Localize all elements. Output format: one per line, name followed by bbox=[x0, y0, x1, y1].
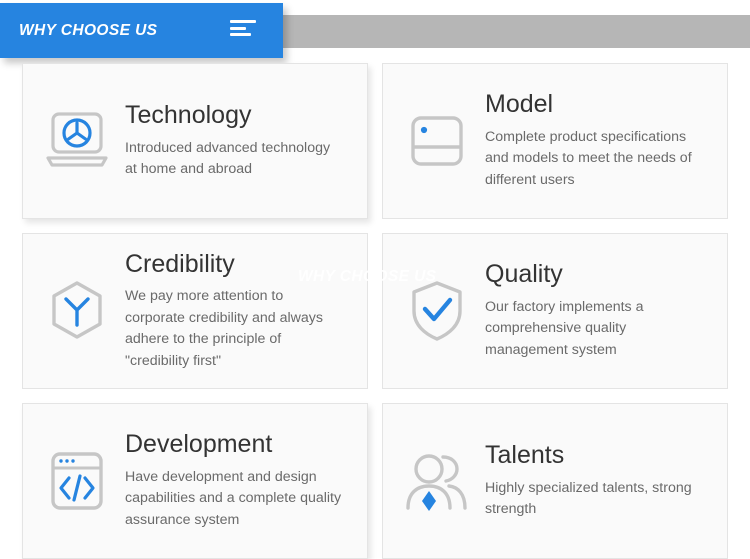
card-text-block: Technology Introduced advanced technolog… bbox=[125, 101, 368, 181]
menu-line-2 bbox=[230, 27, 246, 30]
laptop-clock-icon bbox=[29, 110, 125, 172]
hexagon-y-icon bbox=[29, 279, 125, 343]
card-description: We pay more attention to corporate credi… bbox=[125, 286, 368, 372]
card-text-block: Quality Our factory implements a compreh… bbox=[485, 260, 728, 361]
feature-card-credibility[interactable]: Credibility We pay more attention to cor… bbox=[22, 233, 368, 389]
card-title: Development bbox=[125, 430, 368, 460]
card-description: Introduced advanced technology at home a… bbox=[125, 138, 368, 181]
card-text-block: Credibility We pay more attention to cor… bbox=[125, 250, 368, 373]
shield-check-icon bbox=[389, 278, 485, 344]
menu-line-1 bbox=[230, 20, 256, 23]
card-title: Technology bbox=[125, 101, 368, 131]
card-title: Credibility bbox=[125, 250, 368, 280]
page-header: WHY CHOOSE US bbox=[0, 0, 750, 62]
people-diamond-icon bbox=[389, 449, 485, 513]
card-title: Quality bbox=[485, 260, 728, 290]
code-window-icon bbox=[29, 448, 125, 514]
feature-card-technology[interactable]: Technology Introduced advanced technolog… bbox=[22, 63, 368, 219]
card-description: Our factory implements a comprehensive q… bbox=[485, 297, 728, 362]
feature-card-grid: Technology Introduced advanced technolog… bbox=[22, 63, 728, 559]
card-text-block: Model Complete product specifications an… bbox=[485, 90, 728, 191]
card-description: Have development and design capabilities… bbox=[125, 467, 368, 532]
card-description: Highly specialized talents, strong stren… bbox=[485, 478, 728, 521]
card-text-block: Talents Highly specialized talents, stro… bbox=[485, 441, 728, 521]
menu-line-3 bbox=[230, 33, 251, 36]
card-title: Talents bbox=[485, 441, 728, 471]
product-box-icon bbox=[389, 110, 485, 172]
feature-card-model[interactable]: Model Complete product specifications an… bbox=[382, 63, 728, 219]
card-description: Complete product specifications and mode… bbox=[485, 127, 728, 192]
feature-card-quality[interactable]: Quality Our factory implements a compreh… bbox=[382, 233, 728, 389]
hamburger-menu-icon[interactable] bbox=[230, 20, 258, 38]
feature-card-talents[interactable]: Talents Highly specialized talents, stro… bbox=[382, 403, 728, 559]
page-title: WHY CHOOSE US bbox=[19, 22, 157, 40]
card-text-block: Development Have development and design … bbox=[125, 430, 368, 531]
card-title: Model bbox=[485, 90, 728, 120]
feature-card-development[interactable]: Development Have development and design … bbox=[22, 403, 368, 559]
